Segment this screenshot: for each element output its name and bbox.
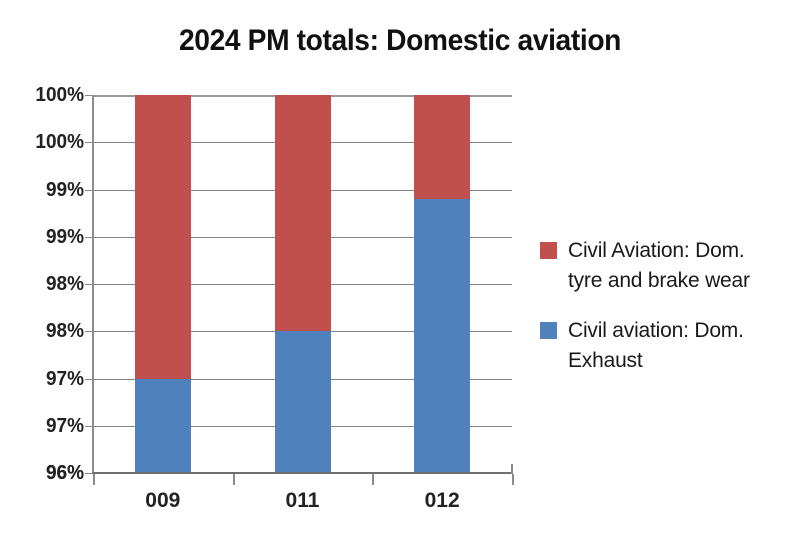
- legend-label-line2: tyre and brake wear: [568, 266, 796, 296]
- x-axis-endcap: [511, 464, 513, 474]
- x-axis-tick-mark: [372, 474, 374, 485]
- legend-label-line2: Exhaust: [568, 346, 796, 376]
- legend-color-swatch: [540, 242, 557, 259]
- y-axis-tick-label: 97%: [18, 369, 85, 389]
- x-axis-category-label: 011: [233, 489, 373, 513]
- x-axis-tick-mark: [512, 474, 514, 485]
- chart-legend: Civil Aviation: Dom.tyre and brake wearC…: [540, 236, 796, 396]
- bar-segment-tyre-brake-wear[interactable]: [275, 95, 331, 331]
- bar-stack[interactable]: [275, 95, 331, 473]
- y-axis-tick-label: 99%: [18, 180, 85, 200]
- y-axis-tick-label: 99%: [18, 227, 85, 247]
- bar-segment-tyre-brake-wear[interactable]: [135, 95, 191, 379]
- legend-label-line1: Civil Aviation: Dom.: [568, 236, 796, 266]
- x-axis-tick-mark: [93, 474, 95, 485]
- bar-segment-exhaust[interactable]: [275, 331, 331, 473]
- plot-area: [93, 95, 512, 473]
- bar-stack[interactable]: [414, 95, 470, 473]
- y-axis-tick-label: 100%: [18, 85, 85, 105]
- legend-item[interactable]: Civil Aviation: Dom.tyre and brake wear: [540, 236, 796, 296]
- legend-label-line1: Civil aviation: Dom.: [568, 316, 796, 346]
- x-axis-category-label: 012: [372, 489, 512, 513]
- chart-title: 2024 PM totals: Domestic aviation: [24, 22, 776, 60]
- legend-color-swatch: [540, 322, 557, 339]
- x-axis-category-label: 009: [93, 489, 233, 513]
- chart-container: 2024 PM totals: Domestic aviation 100%10…: [0, 0, 800, 541]
- y-axis-line: [92, 95, 94, 474]
- y-axis-tick-label: 98%: [18, 321, 85, 341]
- x-axis-line: [92, 472, 513, 474]
- bar-segment-exhaust[interactable]: [414, 199, 470, 473]
- bar-segment-exhaust[interactable]: [135, 379, 191, 474]
- legend-item[interactable]: Civil aviation: Dom.Exhaust: [540, 316, 796, 376]
- y-axis-tick-label: 96%: [18, 463, 85, 483]
- y-axis-tick-label: 100%: [18, 132, 85, 152]
- bar-segment-tyre-brake-wear[interactable]: [414, 95, 470, 199]
- x-axis-tick-mark: [233, 474, 235, 485]
- bar-stack[interactable]: [135, 95, 191, 473]
- y-axis-tick-label: 98%: [18, 274, 85, 294]
- y-axis-tick-label: 97%: [18, 416, 85, 436]
